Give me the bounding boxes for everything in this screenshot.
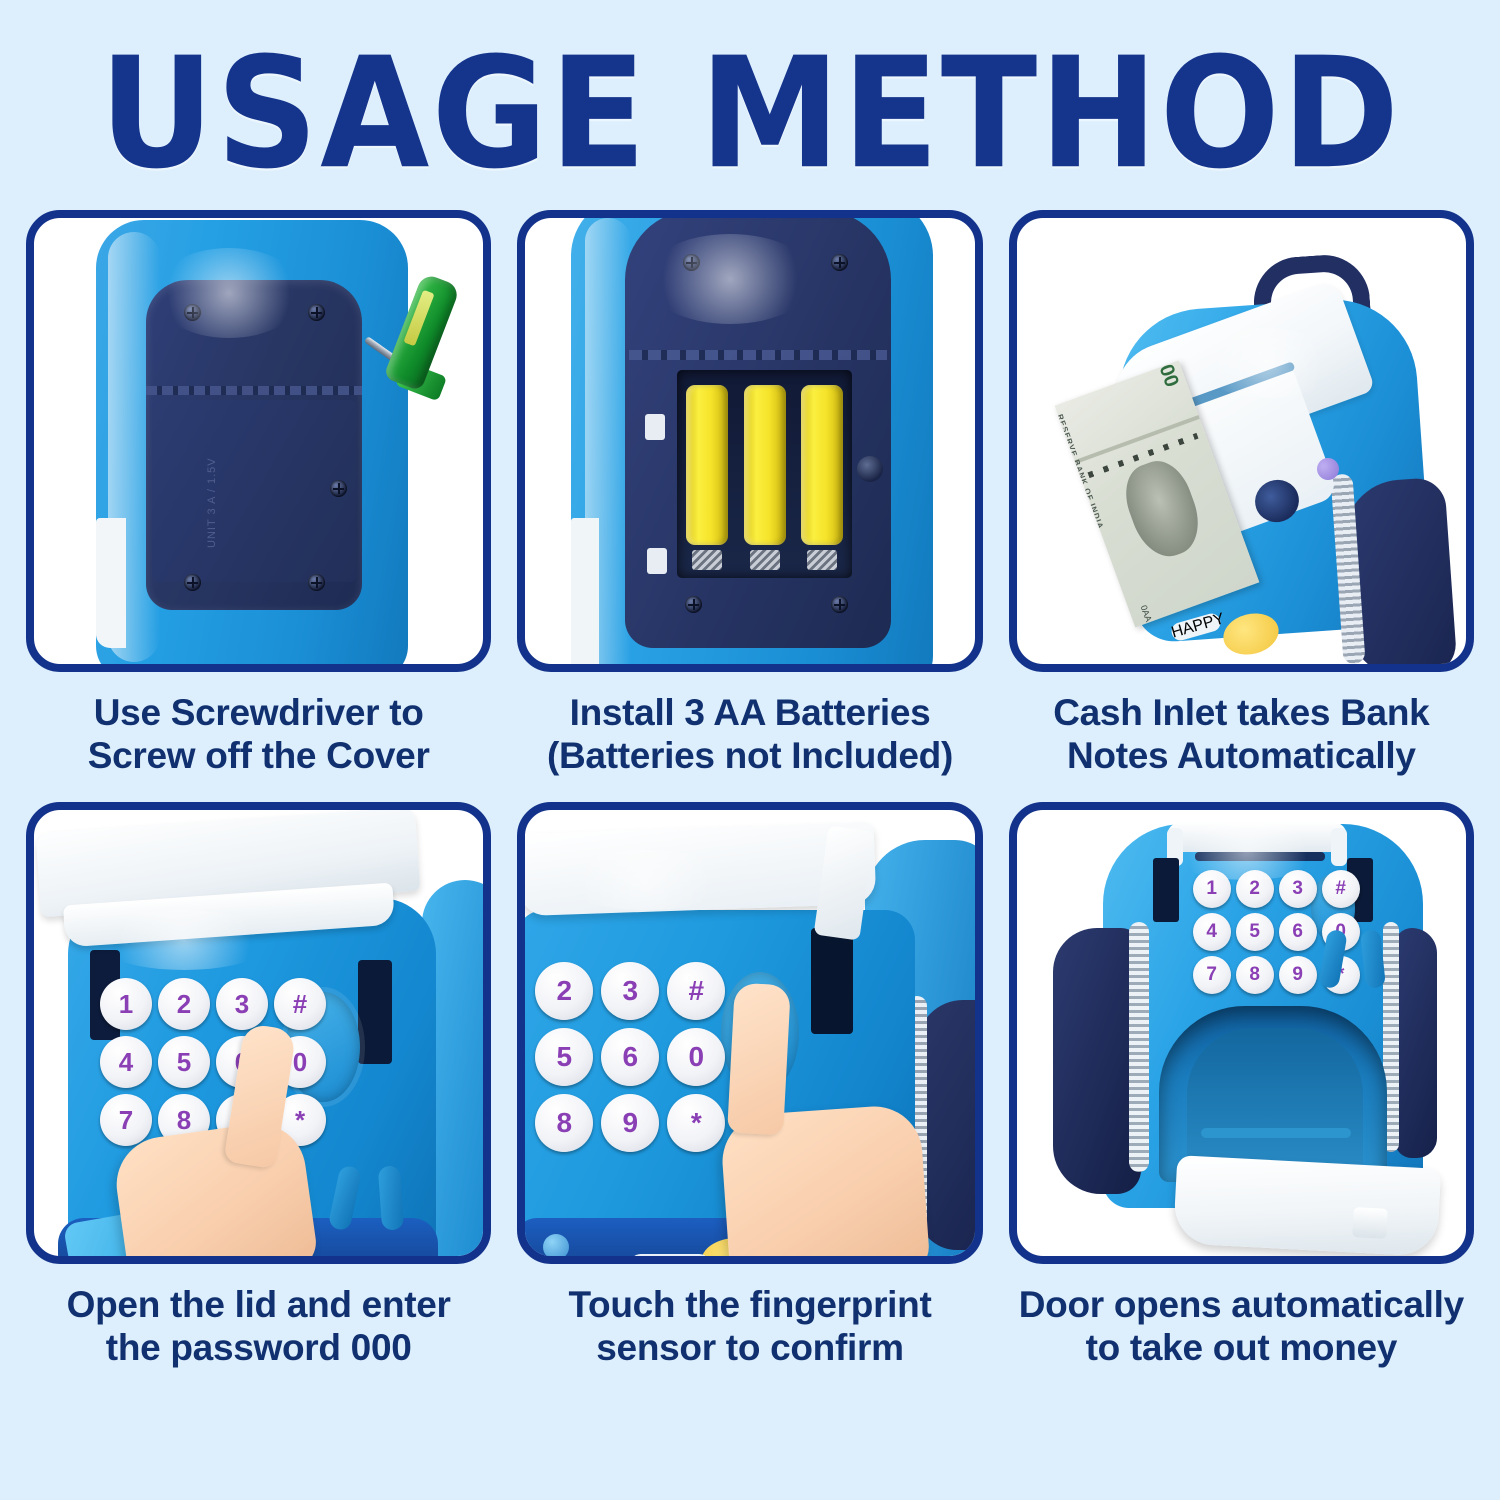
key-1[interactable]: 1 [1193, 870, 1231, 908]
carry-handle[interactable] [1167, 822, 1347, 852]
caption-line-1: Install 3 AA Batteries [517, 692, 982, 735]
key-8[interactable]: 8 [1236, 956, 1274, 994]
vent-strip [629, 350, 887, 360]
key-3[interactable]: 3 [1279, 870, 1317, 908]
strap-icon [1395, 928, 1437, 1158]
vent-strip [146, 386, 362, 395]
aa-battery-icon [744, 385, 786, 545]
cover-tab [645, 414, 665, 440]
strap-icon [378, 1165, 404, 1230]
key-9[interactable]: 9 [601, 1094, 659, 1152]
key-6[interactable]: 6 [601, 1028, 659, 1086]
key-3[interactable]: 3 [601, 962, 659, 1020]
key-3[interactable]: 3 [216, 978, 268, 1030]
caption-line-2: (Batteries not Included) [517, 735, 982, 778]
page-header: USAGE METHOD [0, 0, 1500, 210]
key-7[interactable]: 7 [1193, 956, 1231, 994]
compartment-interior [1187, 1028, 1363, 1178]
battery-slot [683, 375, 731, 573]
key-2[interactable]: 2 [158, 978, 210, 1030]
cover-tab [647, 548, 667, 574]
door-latch [1352, 1207, 1388, 1239]
key-6[interactable]: 6 [1279, 913, 1317, 951]
cover-emboss-text: UNIT 3 A / 1.5V [204, 428, 284, 548]
caption-line-1: Use Screwdriver to [26, 692, 491, 735]
step-photo-5: 2 3 # 5 6 0 8 9 * HAPPY [517, 802, 982, 1264]
caption-line-1: Cash Inlet takes Bank [1009, 692, 1474, 735]
spring-contact-icon [750, 550, 780, 570]
caption-line-1: Touch the fingerprint [517, 1284, 982, 1327]
step-card-1: UNIT 3 A / 1.5V Use Screwdriver to Screw… [26, 210, 491, 794]
key-5[interactable]: 5 [158, 1036, 210, 1088]
strap-icon [1318, 929, 1348, 990]
step-card-4: 1 2 3 # 4 5 6 0 7 8 9 * HAPPY [26, 802, 491, 1386]
key-8[interactable]: 8 [535, 1094, 593, 1152]
battery-compartment [677, 370, 852, 578]
screw-icon [308, 304, 325, 321]
key-0[interactable]: 0 [667, 1028, 725, 1086]
step-photo-3: HAPPY RESERVE BANK OF INDIA 500 0AA 0000… [1009, 210, 1474, 672]
key-2[interactable]: 2 [535, 962, 593, 1020]
key-hash[interactable]: # [1322, 870, 1360, 908]
key-star[interactable]: * [667, 1094, 725, 1152]
step-card-6: 1 2 3 # 4 5 6 0 7 8 9 * [1009, 802, 1474, 1386]
keypad[interactable]: 2 3 # 5 6 0 8 9 * [535, 962, 725, 1152]
key-9[interactable]: 9 [1279, 956, 1317, 994]
spring-contact-icon [807, 550, 837, 570]
step-caption-1: Use Screwdriver to Screw off the Cover [26, 688, 491, 794]
aa-battery-icon [801, 385, 843, 545]
zipper-icon [1129, 922, 1149, 1172]
key-5[interactable]: 5 [535, 1028, 593, 1086]
key-4[interactable]: 4 [100, 1036, 152, 1088]
step-photo-4: 1 2 3 # 4 5 6 0 7 8 9 * HAPPY [26, 802, 491, 1264]
battery-slot [741, 375, 789, 573]
step-card-2: Install 3 AA Batteries (Batteries not In… [517, 210, 982, 794]
page-title: USAGE METHOD [99, 37, 1401, 190]
battery-slot [798, 375, 846, 573]
front-pocket [1053, 928, 1141, 1194]
step-photo-2 [517, 210, 982, 672]
step-caption-6: Door opens automatically to take out mon… [1009, 1280, 1474, 1386]
caption-line-1: Open the lid and enter [26, 1284, 491, 1327]
caption-line-2: Notes Automatically [1009, 735, 1474, 778]
key-7[interactable]: 7 [100, 1094, 152, 1146]
steps-grid: UNIT 3 A / 1.5V Use Screwdriver to Screw… [0, 210, 1500, 1386]
dark-slot [1153, 858, 1179, 922]
keypad[interactable]: 1 2 3 # 4 5 6 0 7 8 9 * [100, 978, 326, 1146]
caption-line-2: sensor to confirm [517, 1327, 982, 1370]
screw-target-icon [330, 480, 347, 497]
cash-inlet-slot [1195, 852, 1325, 861]
aa-battery-icon [686, 385, 728, 545]
strap-group [334, 1166, 418, 1236]
step-card-5: 2 3 # 5 6 0 8 9 * HAPPY Touch the finger… [517, 802, 982, 1386]
dark-slot [358, 960, 392, 1064]
front-pocket [917, 1000, 982, 1250]
strap-group [1323, 930, 1399, 996]
handle-post [1331, 828, 1347, 866]
caption-line-2: to take out money [1009, 1327, 1474, 1370]
key-2[interactable]: 2 [1236, 870, 1274, 908]
caption-line-2: the password 000 [26, 1327, 491, 1370]
note-portrait [1116, 453, 1209, 565]
pointing-finger [727, 983, 791, 1136]
key-hash[interactable]: # [274, 978, 326, 1030]
step-photo-1: UNIT 3 A / 1.5V [26, 210, 491, 672]
step-caption-2: Install 3 AA Batteries (Batteries not In… [517, 688, 982, 794]
spring-contact-icon [692, 550, 722, 570]
step-caption-3: Cash Inlet takes Bank Notes Automaticall… [1009, 688, 1474, 794]
key-hash[interactable]: # [667, 962, 725, 1020]
side-white-trim [96, 518, 126, 648]
screw-icon [184, 304, 201, 321]
side-white-trim [571, 518, 599, 672]
key-4[interactable]: 4 [1193, 913, 1231, 951]
screw-icon [184, 574, 201, 591]
caption-line-2: Screw off the Cover [26, 735, 491, 778]
dark-slot [811, 928, 853, 1034]
compartment-shelf [1201, 1128, 1351, 1138]
strap-icon [1360, 929, 1386, 989]
step-caption-5: Touch the fingerprint sensor to confirm [517, 1280, 982, 1386]
key-1[interactable]: 1 [100, 978, 152, 1030]
step-caption-4: Open the lid and enter the password 000 [26, 1280, 491, 1386]
planet-sticker-icon [543, 1234, 569, 1260]
key-5[interactable]: 5 [1236, 913, 1274, 951]
step-card-3: HAPPY RESERVE BANK OF INDIA 500 0AA 0000… [1009, 210, 1474, 794]
step-photo-6: 1 2 3 # 4 5 6 0 7 8 9 * [1009, 802, 1474, 1264]
opened-door[interactable] [1173, 1155, 1441, 1257]
screw-icon [308, 574, 325, 591]
caption-line-1: Door opens automatically [1009, 1284, 1474, 1327]
brand-badge: HAPPY [629, 1254, 711, 1264]
